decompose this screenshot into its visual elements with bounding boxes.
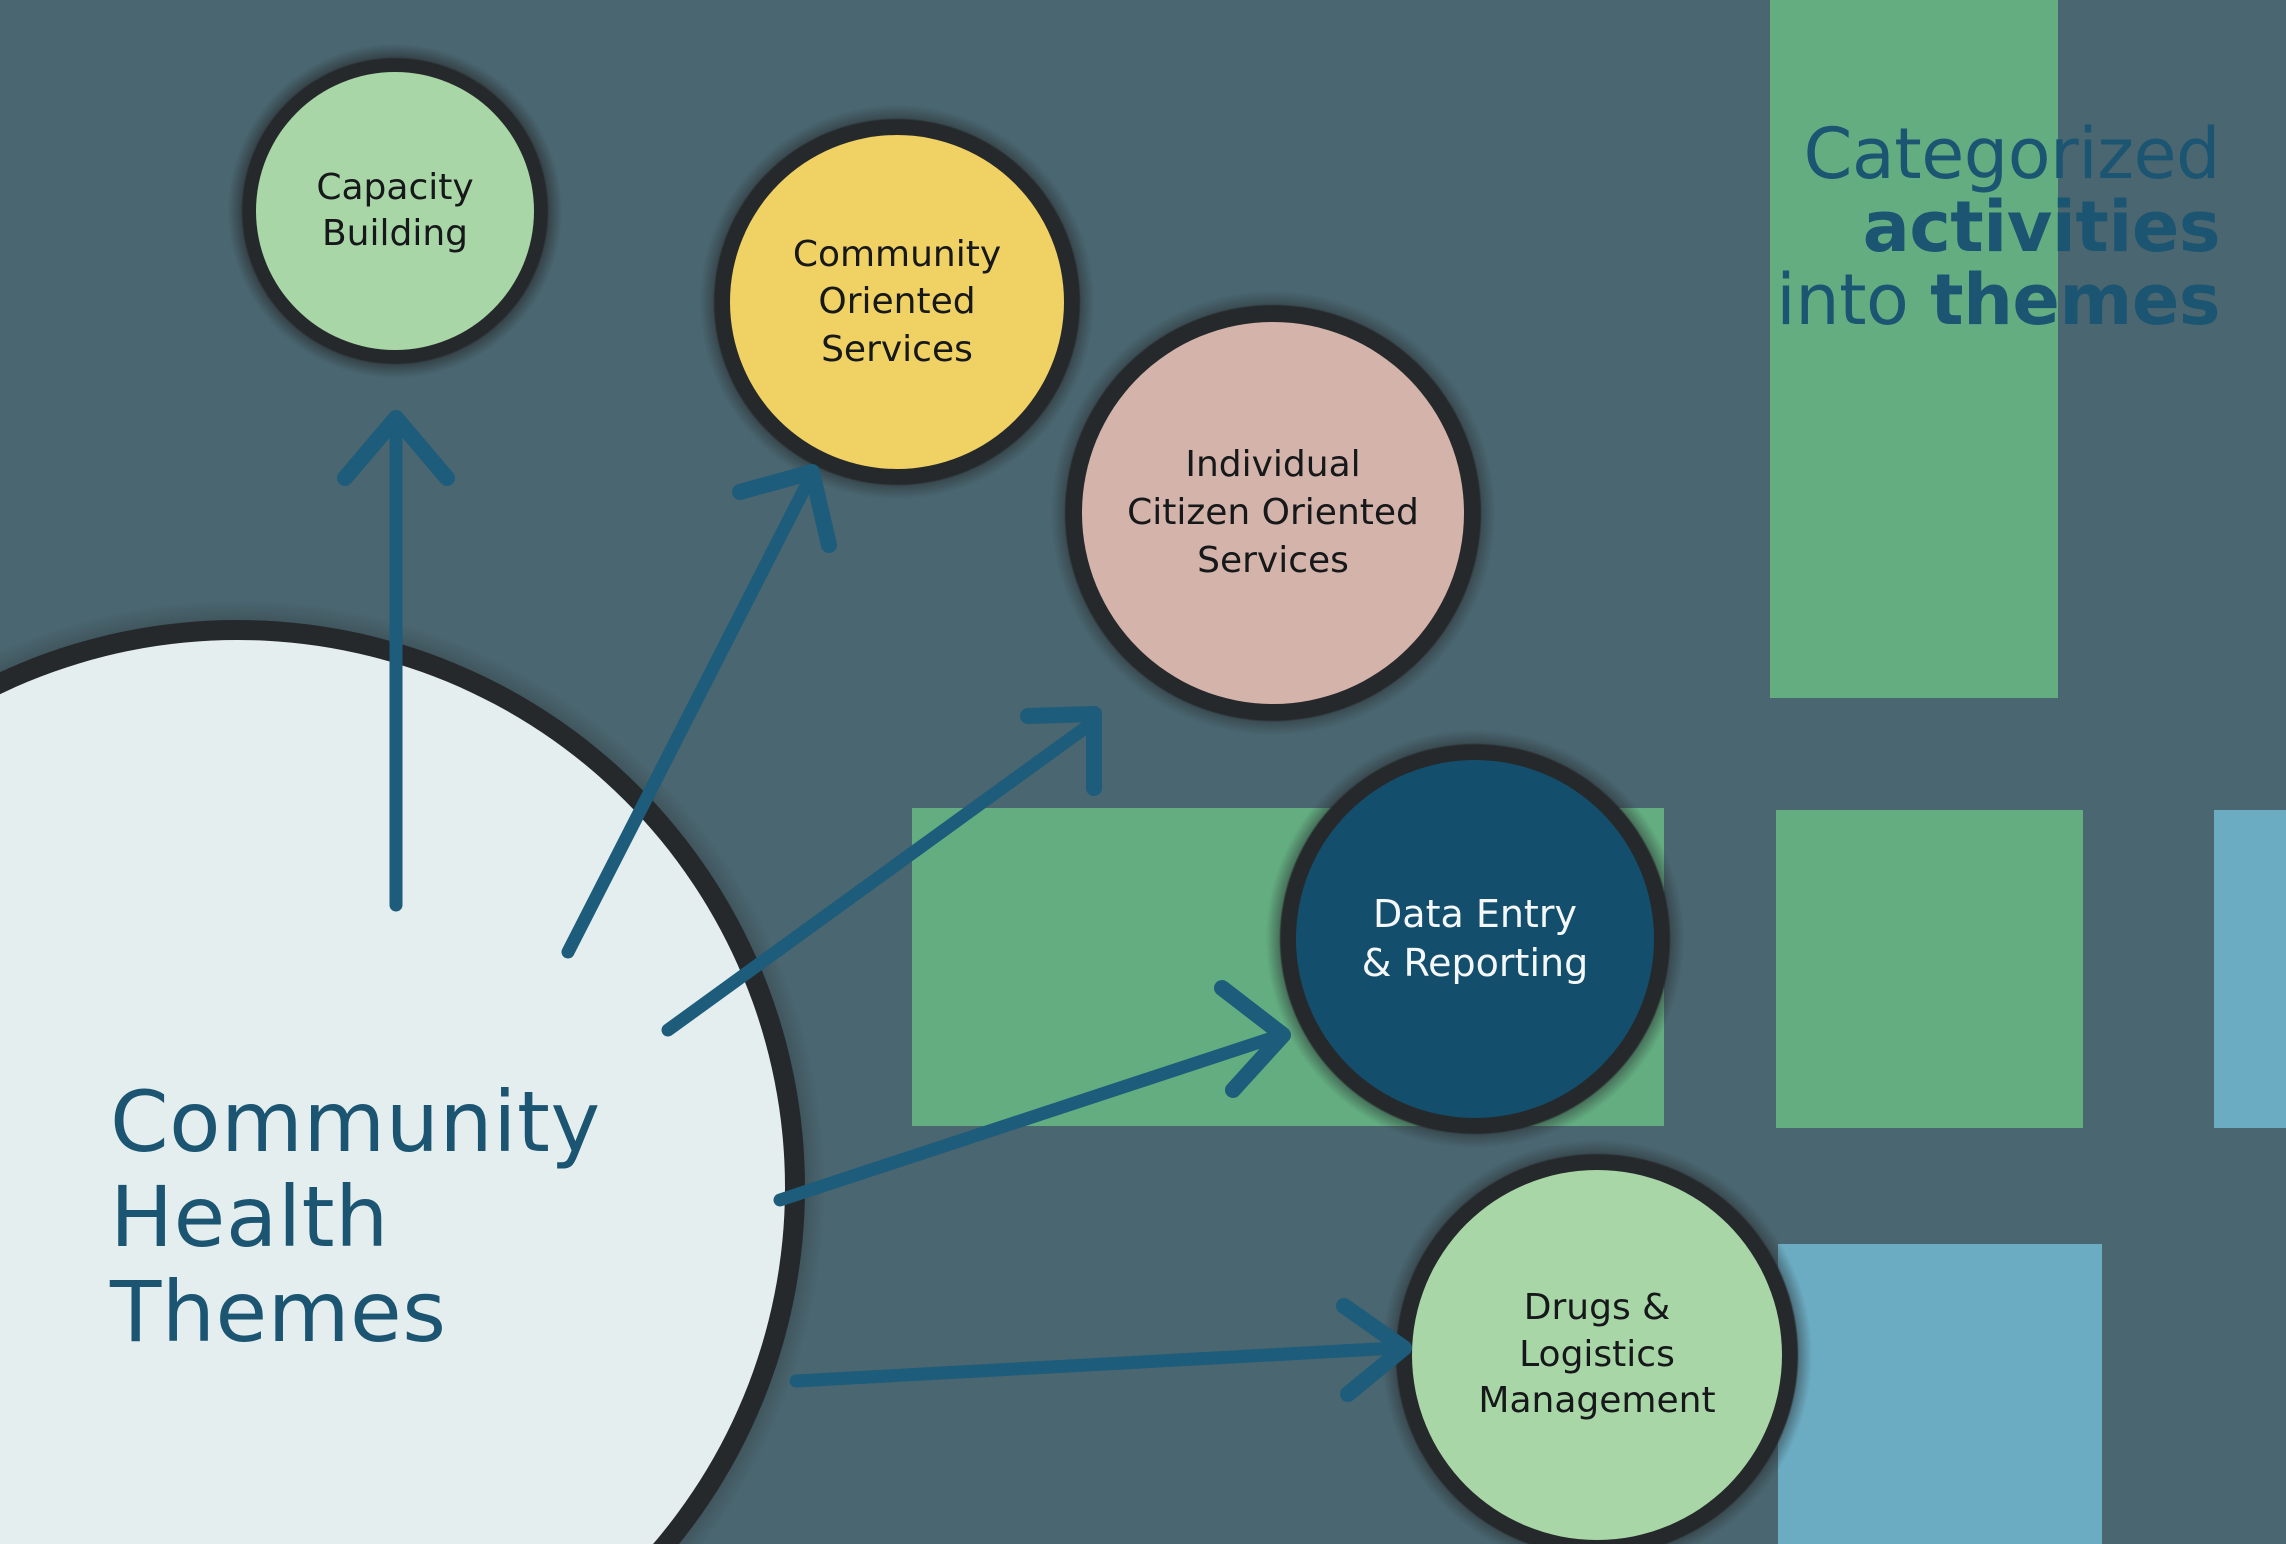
capacity-building-line-2: Building — [322, 213, 468, 254]
community-oriented-services-line-3: Services — [821, 329, 973, 370]
community-oriented-services-line-2: Oriented — [818, 281, 975, 322]
hub-label-line-3: Themes — [110, 1265, 670, 1360]
decor-green-rect-right — [1776, 810, 2083, 1128]
decor-blue-rect-bottom — [1778, 1244, 2102, 1544]
headline-activities: activities — [1863, 186, 2220, 268]
theme-bubble-individual-citizen-oriented-services[interactable]: Individual Citizen Oriented Services — [1082, 322, 1464, 704]
headline-into: into — [1776, 259, 1930, 341]
individual-citizen-line-3: Services — [1197, 540, 1349, 581]
hub-label-line-2: Health — [110, 1170, 670, 1265]
theme-bubble-community-oriented-services[interactable]: Community Oriented Services — [730, 135, 1064, 469]
theme-bubble-capacity-building[interactable]: Capacity Building — [256, 72, 534, 350]
diagram-canvas: Categorized activities into themes Commu… — [0, 0, 2286, 1544]
hub-label-line-1: Community — [110, 1075, 670, 1170]
community-oriented-services-line-1: Community — [793, 234, 1001, 275]
capacity-building-line-1: Capacity — [316, 167, 473, 208]
headline-line-3: into themes — [1330, 264, 2220, 337]
drugs-logistics-line-1: Drugs & — [1524, 1287, 1670, 1328]
theme-bubble-data-entry-reporting[interactable]: Data Entry & Reporting — [1296, 760, 1654, 1118]
drugs-logistics-line-3: Management — [1478, 1380, 1715, 1421]
connector-to-drugs-logistics-management — [796, 1306, 1404, 1394]
decor-blue-strip-right — [2214, 810, 2286, 1128]
data-entry-line-1: Data Entry — [1373, 892, 1577, 936]
data-entry-line-2: & Reporting — [1362, 941, 1588, 985]
headline-line-1: Categorized — [1330, 118, 2220, 191]
headline: Categorized activities into themes — [1330, 118, 2220, 336]
headline-themes: themes — [1930, 259, 2220, 341]
headline-line-2: activities — [1330, 191, 2220, 264]
individual-citizen-line-2: Citizen Oriented — [1127, 492, 1419, 533]
decor-green-rect-top — [1770, 0, 2058, 698]
theme-bubble-drugs-logistics-management[interactable]: Drugs & Logistics Management — [1412, 1170, 1782, 1540]
hub-label: Community Health Themes — [110, 1075, 670, 1360]
individual-citizen-line-1: Individual — [1185, 444, 1360, 485]
drugs-logistics-line-2: Logistics — [1519, 1334, 1675, 1375]
